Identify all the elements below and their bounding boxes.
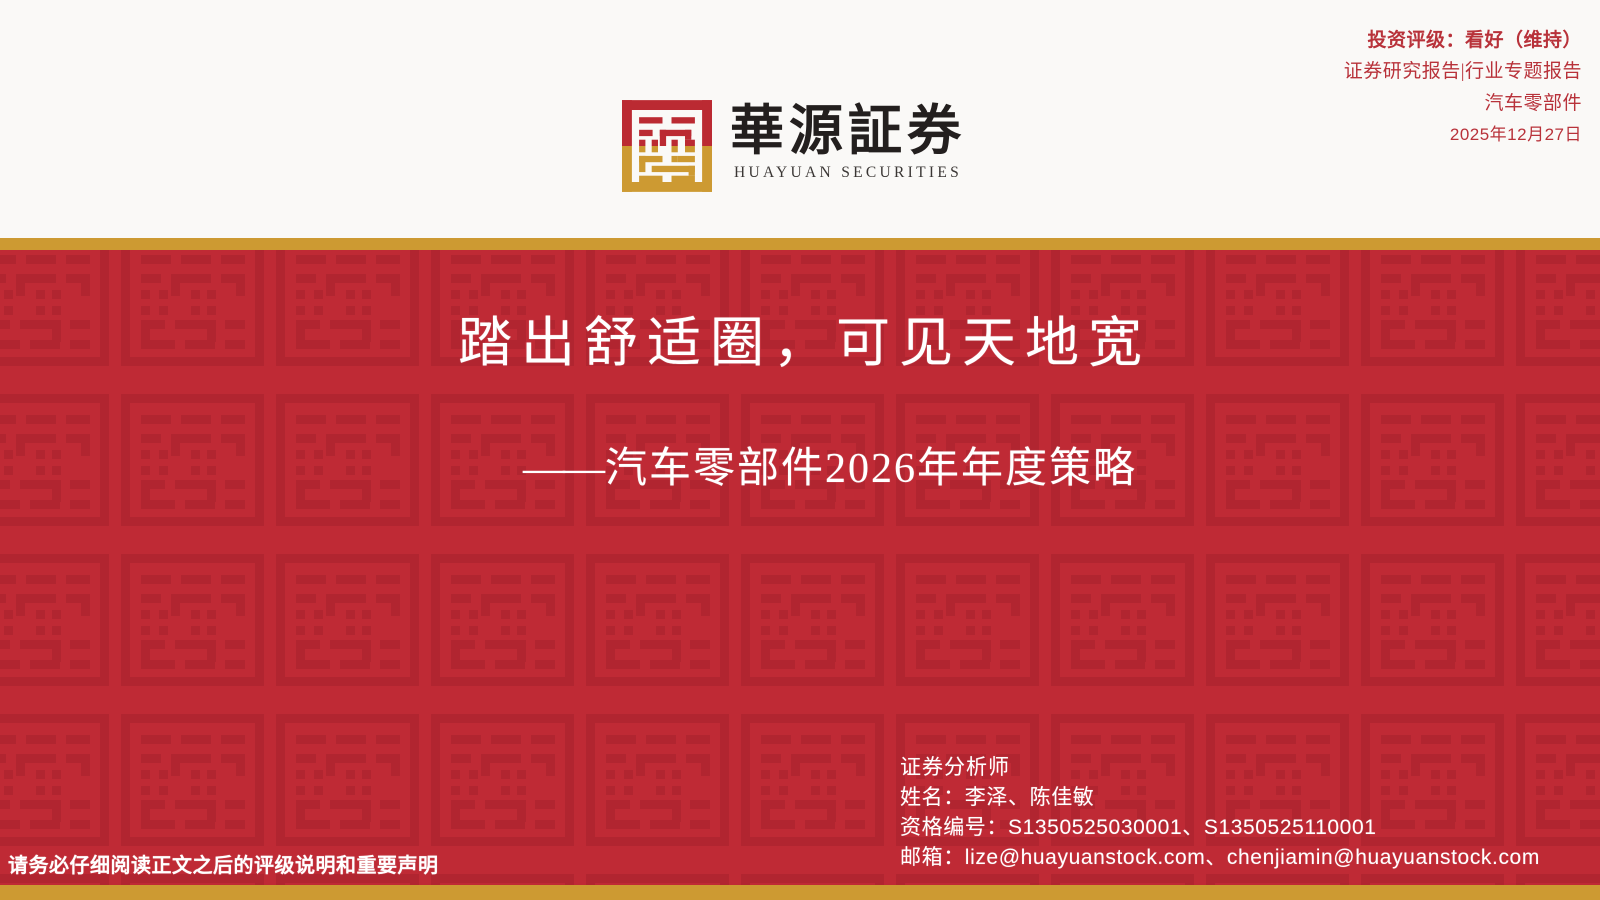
subtitle-text: 汽车零部件2026年年度策略 (605, 446, 1137, 492)
logo-wordmark: 華源証券 HUAYUAN SECURITIES (730, 100, 966, 182)
subtitle-dash: —— (523, 446, 603, 492)
header-meta-block: 投资评级：看好（维持） 证券研究报告|行业专题报告 汽车零部件 2025年12月… (1344, 26, 1582, 150)
logo-chinese-name: 華源証券 (730, 100, 966, 162)
logo-english-name: HUAYUAN SECURITIES (730, 164, 962, 182)
page-title: 踏出舒适圈，可见天地宽 (0, 308, 1600, 378)
company-logo: 華源証券 HUAYUAN SECURITIES (622, 100, 966, 192)
report-date: 2025年12月27日 (1344, 120, 1582, 150)
report-sector: 汽车零部件 (1344, 88, 1582, 120)
cover-body: 踏出舒适圈，可见天地宽 ——汽车零部件2026年年度策略 证券分析师 姓名：李泽… (0, 250, 1600, 885)
gold-divider-top (0, 238, 1600, 250)
analyst-heading: 证券分析师 (900, 753, 1540, 783)
analyst-info-block: 证券分析师 姓名：李泽、陈佳敏 资格编号：S1350525030001、S135… (900, 753, 1540, 873)
huayuan-seal-mark-icon (622, 100, 712, 192)
analyst-emails: 邮箱：lize@huayuanstock.com、chenjiamin@huay… (900, 843, 1540, 873)
report-type: 证券研究报告|行业专题报告 (1344, 56, 1582, 88)
investment-rating: 投资评级：看好（维持） (1344, 26, 1582, 56)
page-subtitle: ——汽车零部件2026年年度策略 (0, 440, 1600, 498)
report-cover-page: 華源証券 HUAYUAN SECURITIES 投资评级：看好（维持） 证券研究… (0, 0, 1600, 900)
analyst-license-numbers: 资格编号：S1350525030001、S1350525110001 (900, 813, 1540, 843)
disclaimer-text: 请务必仔细阅读正文之后的评级说明和重要声明 (8, 853, 439, 879)
cover-header: 華源証券 HUAYUAN SECURITIES 投资评级：看好（维持） 证券研究… (0, 0, 1600, 238)
analyst-names: 姓名：李泽、陈佳敏 (900, 783, 1540, 813)
gold-divider-bottom (0, 885, 1600, 900)
